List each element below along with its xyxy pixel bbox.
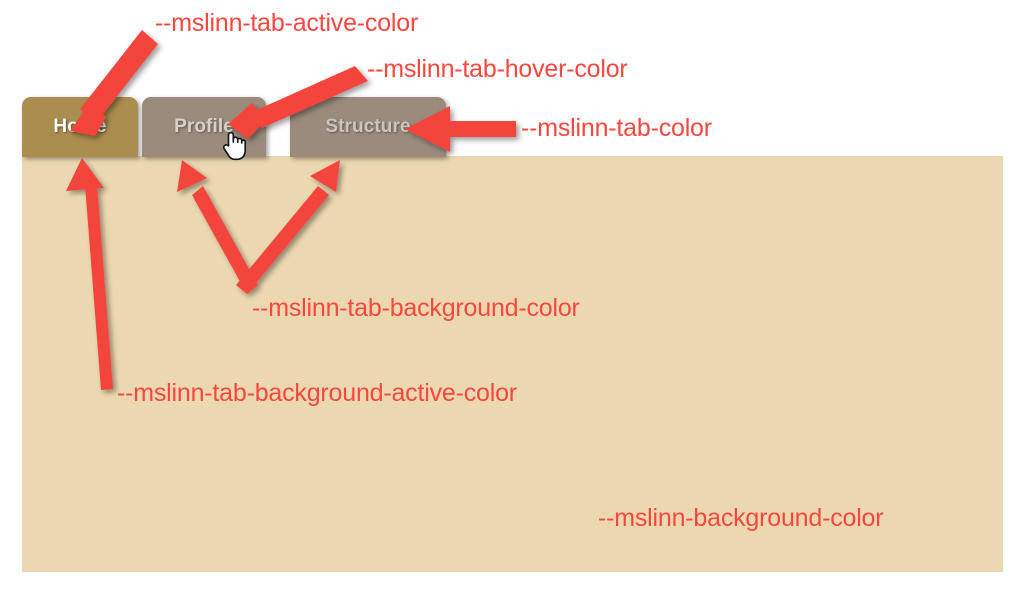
- label-tab-hover-color: --mslinn-tab-hover-color: [367, 55, 628, 84]
- label-tab-background-color: --mslinn-tab-background-color: [252, 294, 580, 323]
- label-tab-background-active-color: --mslinn-tab-background-active-color: [117, 379, 517, 408]
- diagram-canvas: Home Profile Structure: [0, 0, 1017, 590]
- tab-profile[interactable]: Profile: [142, 97, 266, 157]
- tab-home[interactable]: Home: [22, 97, 138, 157]
- tab-structure[interactable]: Structure: [290, 97, 446, 157]
- label-background-color: --mslinn-background-color: [598, 504, 883, 533]
- label-tab-color: --mslinn-tab-color: [521, 114, 712, 143]
- tab-profile-label: Profile: [174, 116, 234, 138]
- tab-home-label: Home: [53, 116, 106, 138]
- label-tab-active-color: --mslinn-tab-active-color: [155, 9, 418, 38]
- tab-structure-label: Structure: [325, 116, 410, 138]
- tablist: Home Profile Structure: [22, 97, 442, 157]
